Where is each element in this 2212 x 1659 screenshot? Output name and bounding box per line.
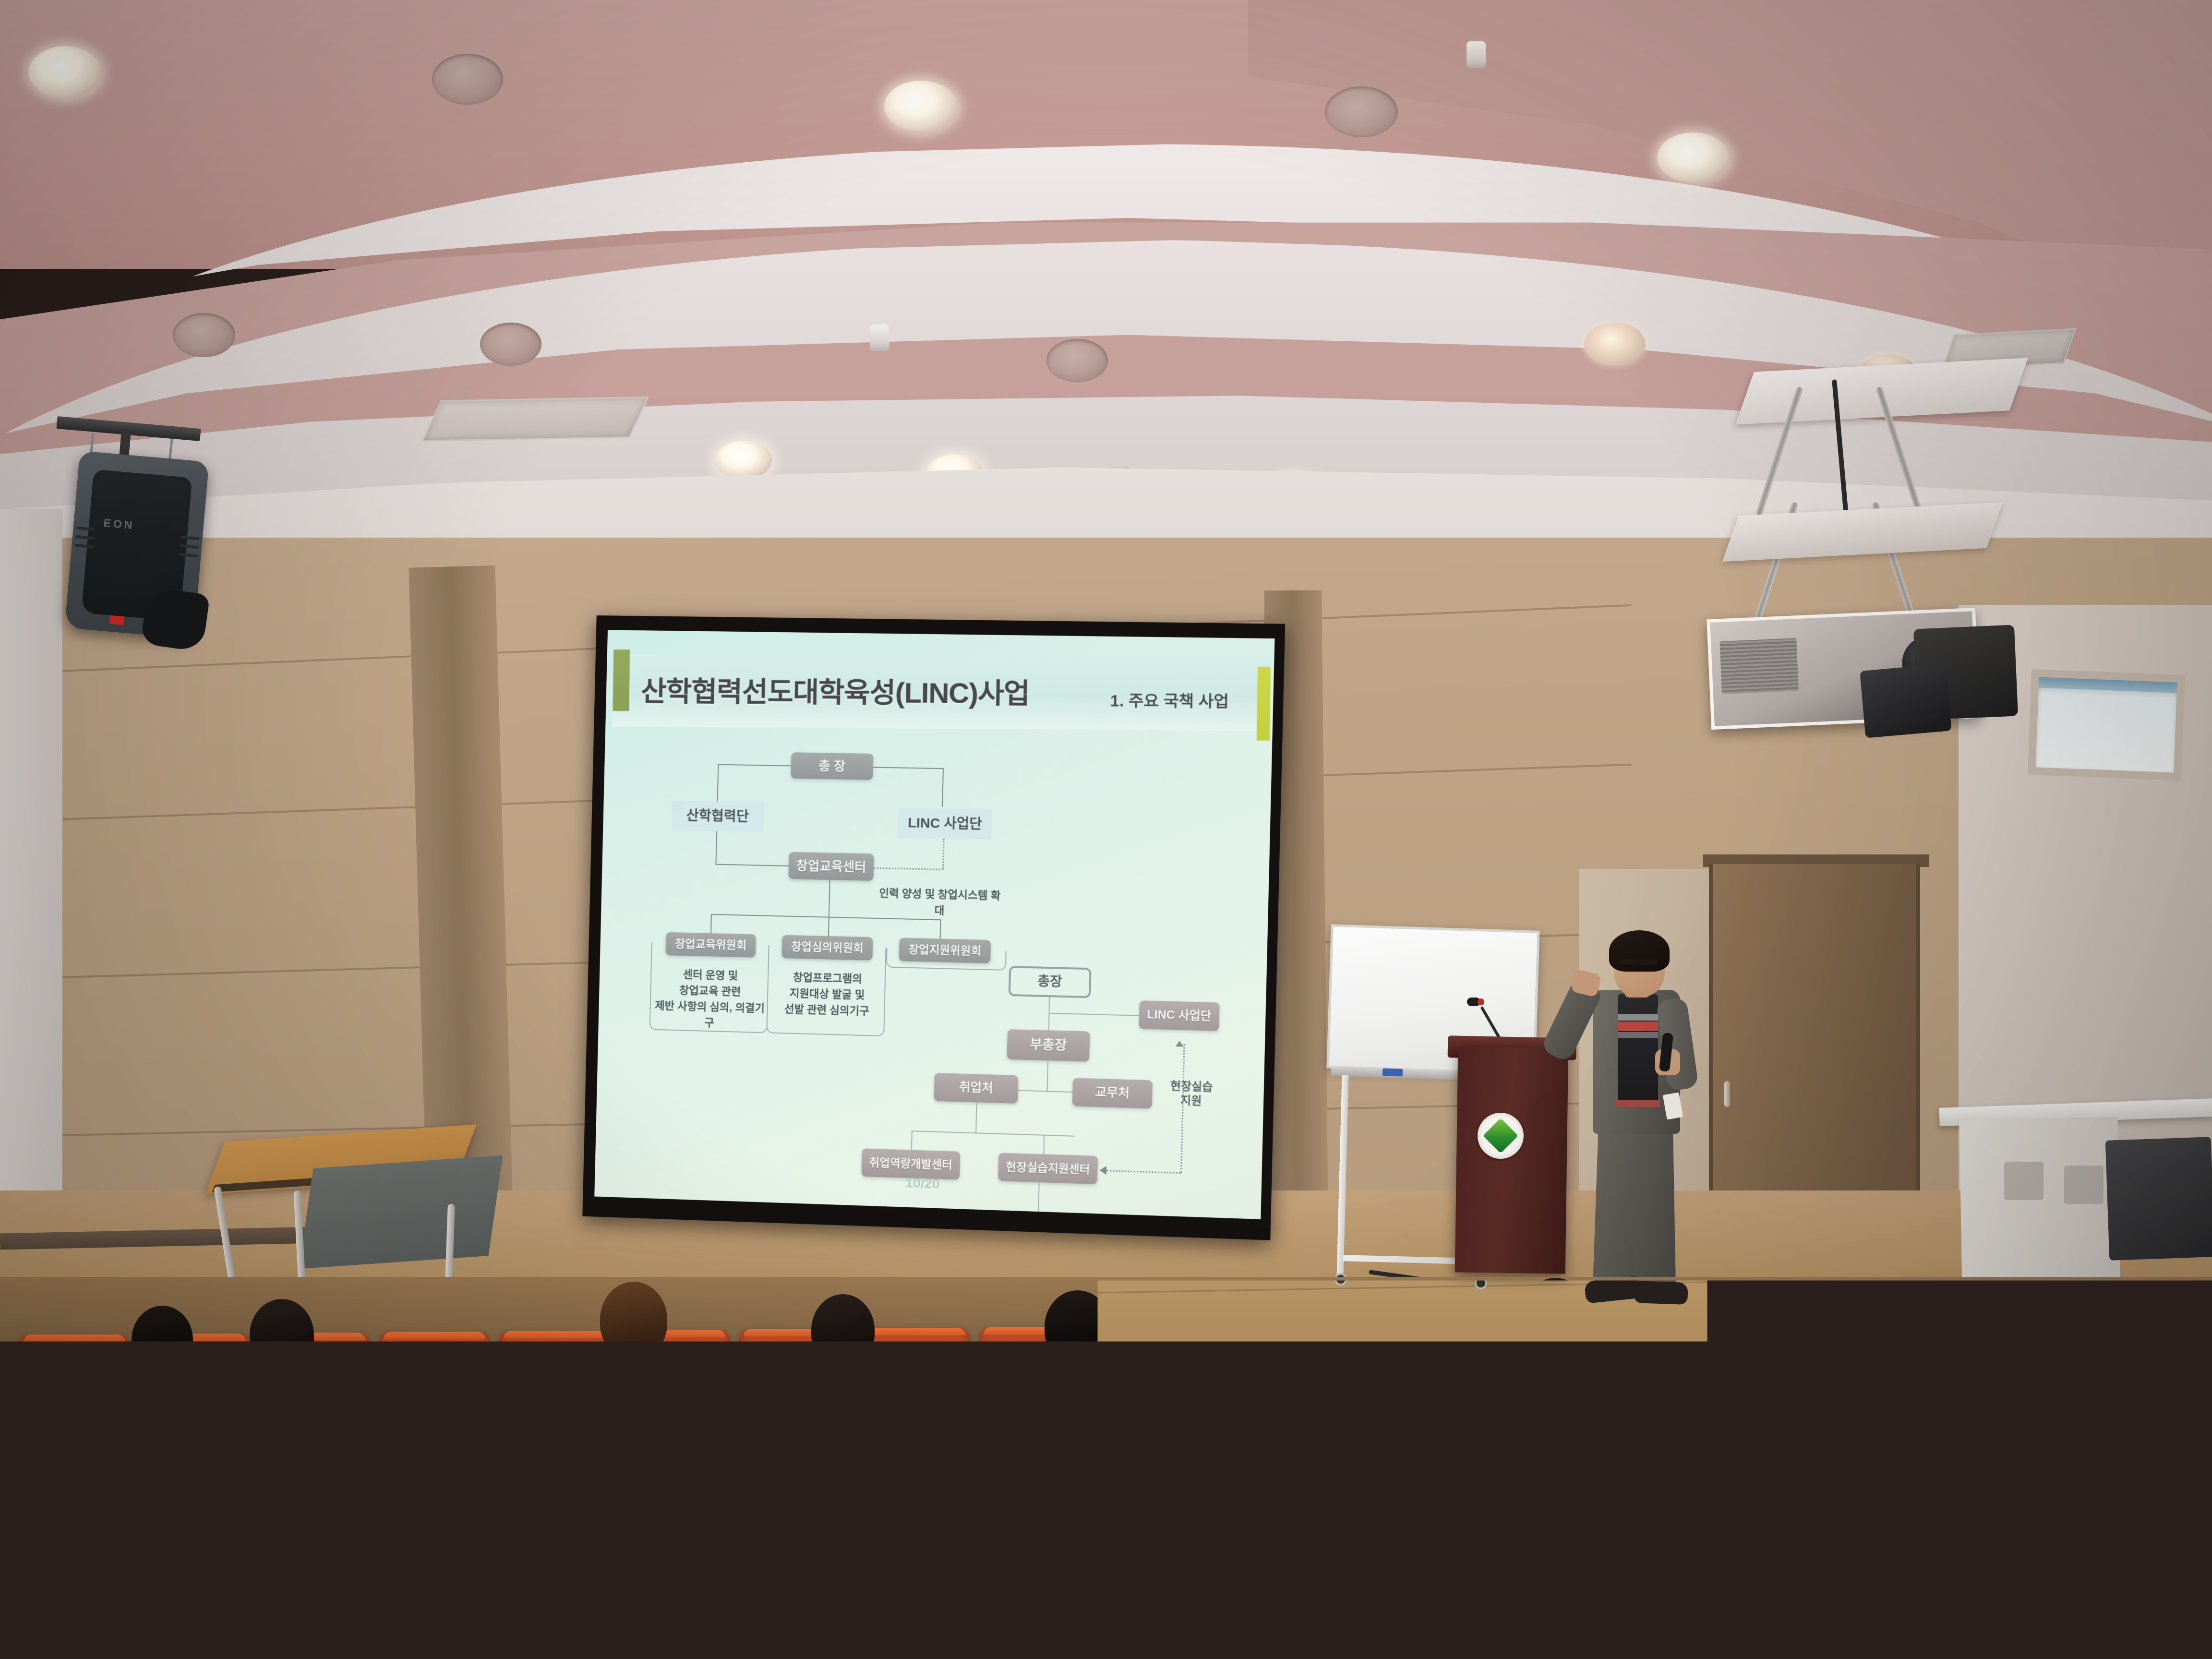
orgbox-field-training-center: 현장실습지원센터	[998, 1153, 1098, 1184]
projector-vent-grille	[1719, 638, 1799, 694]
presenter-sweater-hem-stripe	[1616, 1100, 1660, 1107]
side-counter-panel	[2004, 1162, 2044, 1200]
ceiling-downlight-icon	[715, 441, 772, 479]
orgbox-president-right: 총장	[1009, 966, 1092, 998]
audience-head	[667, 1422, 753, 1520]
connector-line	[715, 864, 789, 866]
orgbox-career-office: 취업처	[934, 1073, 1018, 1104]
university-emblem-icon	[1478, 1113, 1524, 1159]
window-blind[interactable]	[2039, 677, 2177, 693]
connector-line-dotted	[942, 839, 945, 869]
ceiling-downlight-icon	[29, 46, 101, 98]
audience-head	[1791, 1287, 1856, 1361]
sprinkler-head-icon	[1467, 41, 1486, 68]
orgbox-president-left: 총 장	[791, 752, 873, 780]
connector-line-dotted	[874, 867, 943, 870]
audience-head	[1042, 1356, 1115, 1437]
orgbox-linc-group-right: LINC 사업단	[1139, 1000, 1219, 1031]
committee-bracket	[886, 948, 1007, 971]
folding-table-modesty-panel	[299, 1155, 503, 1269]
presenter-sweater	[1618, 994, 1658, 1104]
connector-line	[912, 1130, 1075, 1137]
orgbox-academic-affairs: 교무처	[1072, 1078, 1153, 1108]
audience-garment	[1915, 1584, 2007, 1656]
audience-head	[2127, 1367, 2199, 1449]
audience-head	[600, 1282, 667, 1358]
slide-header-accent-left	[613, 649, 630, 711]
camera-lens-icon	[1283, 1424, 1309, 1450]
audience-head	[2040, 1510, 2143, 1631]
ceiling-downlight-icon	[432, 54, 503, 105]
slide-header-bar: 산학협력선도대학육성(LINC)사업 1. 주요 국책 사업	[613, 654, 1270, 731]
audience-head	[132, 1306, 193, 1374]
audience-garment	[1373, 1400, 1445, 1453]
connector-line	[873, 767, 943, 769]
connector-line	[829, 880, 830, 918]
slide-header-accent-right	[1257, 667, 1271, 741]
audience-garment	[422, 1397, 494, 1450]
arrow-up-icon	[1176, 1041, 1184, 1047]
presenter-hair	[1609, 930, 1670, 972]
connector-line	[1047, 1060, 1049, 1091]
ceiling-downlight-icon	[480, 323, 541, 366]
audience-head	[1939, 1291, 2007, 1366]
audience-garment	[1186, 1584, 1253, 1637]
sprinkler-head-icon	[870, 325, 889, 351]
door-handle-icon[interactable]	[1724, 1081, 1730, 1107]
arrow-left-icon	[1099, 1166, 1106, 1175]
connector-line	[715, 831, 717, 865]
audience-head	[1435, 1421, 1523, 1521]
slide-subtitle: 1. 주요 국책 사업	[1110, 687, 1229, 711]
audience-head	[1045, 1290, 1111, 1363]
connector-line	[942, 768, 944, 807]
ceiling-downlight-icon	[173, 313, 235, 357]
audience-head	[509, 1424, 596, 1525]
ceiling-downlight-icon	[884, 81, 957, 132]
presenter-sweater-stripe	[1618, 1014, 1658, 1021]
slide-surface: 산학협력선도대학육성(LINC)사업 1. 주요 국책 사업 총 장 산학협력단…	[594, 630, 1274, 1219]
connector-line	[975, 1102, 977, 1133]
ceiling-downlight-icon	[1584, 323, 1646, 366]
jbl-badge-icon	[109, 615, 124, 625]
projection-screen: 산학협력선도대학육성(LINC)사업 1. 주요 국책 사업 총 장 산학협력단…	[582, 615, 1285, 1240]
audience-garment	[1603, 1421, 1671, 1474]
side-counter-equipment	[2105, 1137, 2212, 1261]
connector-line	[939, 919, 941, 940]
auditorium-seat[interactable]	[0, 1403, 125, 1484]
audience-head	[811, 1294, 875, 1366]
glasses-icon	[1621, 959, 1657, 965]
audience-head	[1858, 1361, 1930, 1443]
orgbox-linc-group-left: LINC 사업단	[898, 807, 992, 840]
wall-window	[2028, 669, 2185, 781]
ceiling-downlight-icon	[1657, 132, 1729, 182]
ceiling-downlight-icon	[1046, 339, 1108, 382]
orgbox-industry-cooperation: 산학협력단	[672, 800, 764, 832]
audience-head	[1176, 1282, 1246, 1359]
speaker-brand-label: EON	[103, 517, 135, 532]
connector-line	[828, 917, 829, 937]
connector-line	[1038, 1182, 1040, 1213]
emblem-inner-shape	[1483, 1118, 1518, 1154]
side-counter-panel	[2064, 1166, 2104, 1204]
audience-handout	[1769, 1426, 1820, 1465]
audience-head	[1522, 1278, 1589, 1355]
orgdesc-startup-edu-committee: 센터 운영 및 창업교육 관련 제반 사항의 심의, 의결기구	[651, 965, 769, 1032]
wall-column-dark	[409, 565, 513, 1211]
ceiling-speaker-right	[1860, 663, 1952, 738]
slide-page-number: 10/20	[905, 1175, 940, 1192]
whiteboard-marker[interactable]	[1382, 1068, 1403, 1076]
auditorium-photo-scene: EON 산학협력선도대학육성(LINC)사업 1. 주요 국책 사업 총 장 산…	[0, 0, 2212, 1659]
orgbox-vice-president: 부총장	[1007, 1029, 1090, 1062]
orgnote-center-expansion: 인력 양성 및 창업시스템 확대	[876, 885, 1004, 920]
connector-line-dotted	[1180, 1044, 1185, 1173]
presenter-sweater-stripe	[1618, 1032, 1658, 1038]
audience-head	[902, 1357, 974, 1438]
audience-head	[1632, 1285, 1700, 1360]
podium-lectern	[1455, 1046, 1569, 1274]
audience-head	[763, 1500, 865, 1620]
auditorium-seat[interactable]	[19, 1334, 130, 1407]
connector-line	[710, 914, 712, 934]
audience-head	[1992, 1364, 2065, 1447]
connector-line	[718, 764, 792, 767]
audience-garment	[1555, 1487, 1637, 1550]
orgnote-field-training-support: 현장실습 지원	[1156, 1078, 1227, 1108]
connector-line	[717, 764, 719, 802]
presenter-sweater-stripe	[1618, 1022, 1658, 1031]
presenter-leg-right	[1632, 1118, 1676, 1292]
microphone-indicator-icon	[1478, 998, 1484, 1005]
audience-head	[2088, 1296, 2154, 1369]
audience-head	[250, 1299, 314, 1371]
connector-line	[911, 1130, 913, 1151]
orgdesc-startup-review-committee: 창업프로그램의 지원대상 발굴 및 선발 관련 심의기구	[769, 969, 886, 1020]
ceiling-downlight-icon	[1325, 86, 1398, 137]
connector-line-dotted	[1106, 1170, 1180, 1174]
audience-head	[1363, 1286, 1429, 1361]
audience-head	[768, 1358, 842, 1441]
ceiling-air-vent	[421, 397, 649, 441]
connector-line	[1043, 1135, 1045, 1155]
audience-seating-area	[0, 1277, 2212, 1659]
orgbox-startup-education-center: 창업교육센터	[788, 852, 874, 881]
slide-title: 산학협력선도대학육성(LINC)사업	[641, 669, 1030, 711]
audience-head	[946, 1499, 1048, 1620]
